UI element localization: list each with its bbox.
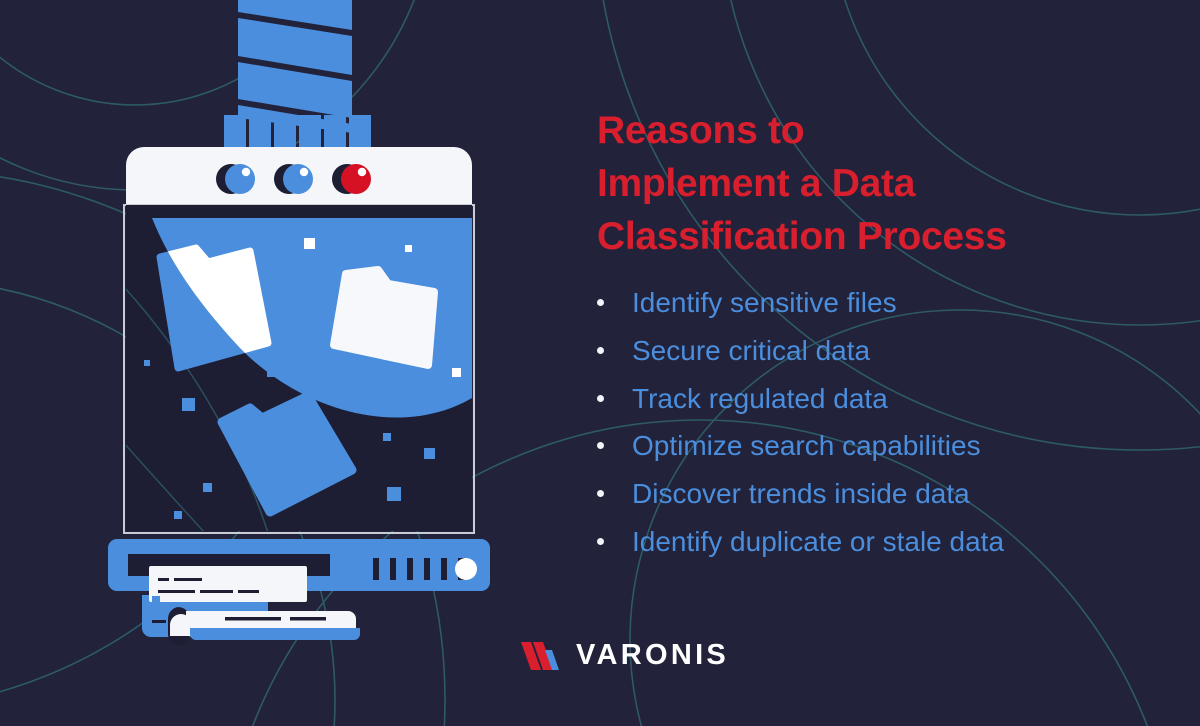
content-column: Reasons to Implement a Data Classificati… [597, 104, 1137, 575]
headline-line-1: Reasons to [597, 104, 1137, 157]
headline-line-3: Classification Process [597, 210, 1137, 263]
bullet-dot-icon [597, 299, 604, 306]
infographic-canvas: Reasons to Implement a Data Classificati… [0, 0, 1200, 726]
headline-line-2: Implement a Data [597, 157, 1137, 210]
list-item: Identify duplicate or stale data [597, 527, 1137, 558]
reasons-list: Identify sensitive files Secure critical… [597, 288, 1137, 558]
list-item-label: Secure critical data [632, 336, 870, 367]
base-indicator-light [455, 558, 477, 580]
illustration-data-classification-machine [0, 0, 560, 726]
device-button-red[interactable] [332, 164, 371, 194]
bullet-dot-icon [597, 347, 604, 354]
varonis-wordmark: VARONIS [576, 639, 729, 672]
page-title: Reasons to Implement a Data Classificati… [597, 104, 1137, 263]
device-header [126, 147, 472, 205]
bullet-dot-icon [597, 538, 604, 545]
list-item: Discover trends inside data [597, 479, 1137, 510]
list-item-label: Optimize search capabilities [632, 431, 981, 462]
bullet-dot-icon [597, 442, 604, 449]
device-button-blue-2[interactable] [274, 164, 313, 194]
list-item: Track regulated data [597, 384, 1137, 415]
list-item-label: Track regulated data [632, 384, 888, 415]
folder-white-left [160, 248, 268, 368]
varonis-logo: VARONIS [519, 639, 729, 672]
list-item-label: Discover trends inside data [632, 479, 970, 510]
list-item-label: Identify sensitive files [632, 288, 897, 319]
device-button-blue-1[interactable] [216, 164, 255, 194]
list-item: Secure critical data [597, 336, 1137, 367]
bullet-dot-icon [597, 490, 604, 497]
list-item: Optimize search capabilities [597, 431, 1137, 462]
paper-sheet-1 [149, 566, 307, 602]
bullet-dot-icon [597, 395, 604, 402]
varonis-mark-icon [519, 640, 563, 672]
list-item-label: Identify duplicate or stale data [632, 527, 1004, 558]
list-item: Identify sensitive files [597, 288, 1137, 319]
device-screen [60, 205, 474, 533]
